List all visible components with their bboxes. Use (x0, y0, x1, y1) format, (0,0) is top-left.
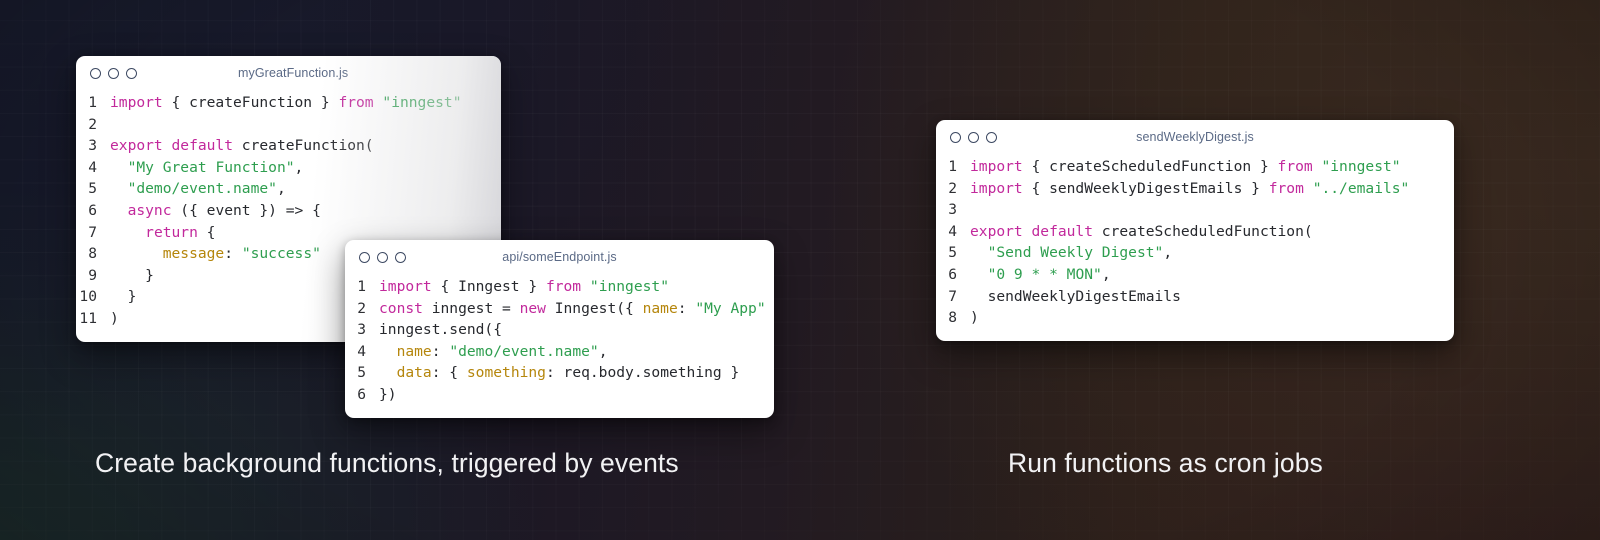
token-kw: from (338, 94, 373, 111)
token-prop: name (397, 343, 432, 360)
line-source: import { Inngest } from "inngest" (379, 276, 669, 298)
line-number: 7 (76, 222, 110, 244)
token-pln: } (110, 267, 154, 284)
token-pln (379, 343, 397, 360)
token-kw: const (379, 300, 423, 317)
token-pln: : (678, 300, 696, 317)
token-pln: ) (110, 310, 119, 327)
line-source: }) (379, 384, 397, 406)
line-source: export default createScheduledFunction( (970, 221, 1313, 243)
code-window-api-some-endpoint[interactable]: api/someEndpoint.js 1import { Inngest } … (345, 240, 774, 418)
window-controls[interactable] (345, 252, 406, 263)
token-kw: import (970, 158, 1023, 175)
window-controls[interactable] (76, 68, 137, 79)
code-line: 2import { sendWeeklyDigestEmails } from … (936, 178, 1454, 200)
token-str: "inngest" (382, 94, 461, 111)
token-pln: : (432, 343, 450, 360)
token-str: "Send Weekly Digest" (988, 244, 1164, 261)
token-pln (110, 159, 128, 176)
minimize-dot[interactable] (968, 132, 979, 143)
token-pln: : req.body.something } (546, 364, 739, 381)
token-pln (970, 266, 988, 283)
close-dot[interactable] (90, 68, 101, 79)
token-pln: inngest.send({ (379, 321, 502, 338)
line-number: 10 (76, 286, 110, 308)
token-str: "My Great Function" (128, 159, 295, 176)
code-line: 3 (936, 199, 1454, 221)
line-source: } (110, 265, 154, 287)
token-pln (110, 224, 145, 241)
code-line: 5 "Send Weekly Digest", (936, 242, 1454, 264)
window-title: api/someEndpoint.js (345, 250, 774, 264)
line-number: 5 (936, 242, 970, 264)
line-source: async ({ event }) => { (110, 200, 321, 222)
token-prop: something (467, 364, 546, 381)
line-source: import { createFunction } from "inngest" (110, 92, 461, 114)
line-source: data: { something: req.body.something } (379, 362, 739, 384)
line-number: 3 (76, 135, 110, 157)
line-source: message: "success" (110, 243, 321, 265)
token-pln (970, 244, 988, 261)
code-line: 1import { Inngest } from "inngest" (345, 276, 774, 298)
line-source: name: "demo/event.name", (379, 341, 607, 363)
maximize-dot[interactable] (395, 252, 406, 263)
token-kw: async (128, 202, 172, 219)
token-pln: { sendWeeklyDigestEmails } (1023, 180, 1269, 197)
line-number: 2 (936, 178, 970, 200)
window-title: sendWeeklyDigest.js (936, 130, 1454, 144)
token-kw: return (145, 224, 198, 241)
line-source: ) (970, 307, 979, 329)
token-pln (1304, 180, 1313, 197)
token-kw: from (546, 278, 581, 295)
minimize-dot[interactable] (377, 252, 388, 263)
line-source: } (110, 286, 136, 308)
code-editor-2[interactable]: 1import { createScheduledFunction } from… (936, 154, 1454, 341)
code-line: 5 data: { something: req.body.something … (345, 362, 774, 384)
token-prop: message (163, 245, 225, 262)
line-number: 1 (345, 276, 379, 298)
token-pln: inngest = (423, 300, 520, 317)
token-pln: , (1163, 244, 1172, 261)
token-pln: createScheduledFunction( (1093, 223, 1313, 240)
line-source: export default createFunction( (110, 135, 374, 157)
line-source: "My Great Function", (110, 157, 303, 179)
maximize-dot[interactable] (986, 132, 997, 143)
caption-left: Create background functions, triggered b… (95, 448, 679, 479)
token-pln: ) (970, 309, 979, 326)
token-kw: export default (110, 137, 233, 154)
code-line: 5 "demo/event.name", (76, 178, 501, 200)
token-str: "0 9 * * MON" (988, 266, 1102, 283)
line-number: 2 (76, 114, 110, 136)
line-number: 4 (936, 221, 970, 243)
code-line: 6 "0 9 * * MON", (936, 264, 1454, 286)
code-line: 4export default createScheduledFunction( (936, 221, 1454, 243)
token-str: "demo/event.name" (449, 343, 598, 360)
window-controls[interactable] (936, 132, 997, 143)
line-number: 1 (936, 156, 970, 178)
token-prop: name (643, 300, 678, 317)
code-editor-1[interactable]: 1import { Inngest } from "inngest"2const… (345, 274, 774, 418)
line-number: 6 (76, 200, 110, 222)
code-line: 8) (936, 307, 1454, 329)
line-number: 3 (345, 319, 379, 341)
line-number: 11 (76, 308, 110, 330)
window-titlebar: myGreatFunction.js (76, 56, 501, 90)
line-number: 9 (76, 265, 110, 287)
close-dot[interactable] (950, 132, 961, 143)
code-window-send-weekly-digest[interactable]: sendWeeklyDigest.js 1import { createSche… (936, 120, 1454, 341)
token-kw: from (1269, 180, 1304, 197)
line-source: sendWeeklyDigestEmails (970, 286, 1181, 308)
token-pln (581, 278, 590, 295)
token-kw: import (970, 180, 1023, 197)
token-pln (110, 202, 128, 219)
code-line: 4 name: "demo/event.name", (345, 341, 774, 363)
caption-right: Run functions as cron jobs (1008, 448, 1323, 479)
token-kw: new (520, 300, 546, 317)
token-pln: }) (379, 386, 397, 403)
token-pln: , (295, 159, 304, 176)
code-line: 7 sendWeeklyDigestEmails (936, 286, 1454, 308)
line-source: inngest.send({ (379, 319, 502, 341)
token-pln: , (277, 180, 286, 197)
token-str: "My App" (695, 300, 765, 317)
minimize-dot[interactable] (108, 68, 119, 79)
line-number: 4 (345, 341, 379, 363)
line-source: import { createScheduledFunction } from … (970, 156, 1401, 178)
line-number: 3 (936, 199, 970, 221)
token-pln (110, 245, 163, 262)
token-pln: { (198, 224, 216, 241)
token-pln: : (224, 245, 242, 262)
token-pln (379, 364, 397, 381)
line-source: "Send Weekly Digest", (970, 242, 1172, 264)
line-number: 8 (936, 307, 970, 329)
token-pln: , (599, 343, 608, 360)
code-line: 3export default createFunction( (76, 135, 501, 157)
code-line: 6}) (345, 384, 774, 406)
token-kw: from (1278, 158, 1313, 175)
line-source: import { sendWeeklyDigestEmails } from "… (970, 178, 1409, 200)
token-pln: } (110, 288, 136, 305)
token-pln: { createScheduledFunction } (1023, 158, 1278, 175)
line-source: "demo/event.name", (110, 178, 286, 200)
token-kw: import (110, 94, 163, 111)
token-pln: { createFunction } (163, 94, 339, 111)
code-line: 4 "My Great Function", (76, 157, 501, 179)
maximize-dot[interactable] (126, 68, 137, 79)
line-source: const inngest = new Inngest({ name: "My … (379, 298, 774, 320)
token-pln: Inngest({ (546, 300, 643, 317)
line-number: 6 (345, 384, 379, 406)
token-prop: data (397, 364, 432, 381)
line-number: 4 (76, 157, 110, 179)
token-pln: , (1102, 266, 1111, 283)
line-number: 2 (345, 298, 379, 320)
code-line: 2const inngest = new Inngest({ name: "My… (345, 298, 774, 320)
code-line: 1import { createScheduledFunction } from… (936, 156, 1454, 178)
line-number: 8 (76, 243, 110, 265)
token-pln: ({ event }) => { (172, 202, 321, 219)
line-number: 5 (76, 178, 110, 200)
token-pln: : { (432, 364, 467, 381)
code-line: 3inngest.send({ (345, 319, 774, 341)
promo-graphic: myGreatFunction.js 1import { createFunct… (0, 0, 1600, 540)
code-line: 6 async ({ event }) => { (76, 200, 501, 222)
token-pln: sendWeeklyDigestEmails (970, 288, 1181, 305)
token-pln: createFunction( (233, 137, 374, 154)
token-str: "inngest" (1321, 158, 1400, 175)
token-pln: { Inngest } (432, 278, 546, 295)
code-line: 1import { createFunction } from "inngest… (76, 92, 501, 114)
line-number: 7 (936, 286, 970, 308)
token-str: "demo/event.name" (128, 180, 277, 197)
line-source: "0 9 * * MON", (970, 264, 1111, 286)
close-dot[interactable] (359, 252, 370, 263)
token-kw: export default (970, 223, 1093, 240)
window-titlebar: sendWeeklyDigest.js (936, 120, 1454, 154)
line-number: 6 (936, 264, 970, 286)
token-str: "../emails" (1313, 180, 1410, 197)
code-line: 2 (76, 114, 501, 136)
token-str: "inngest" (590, 278, 669, 295)
window-titlebar: api/someEndpoint.js (345, 240, 774, 274)
token-kw: import (379, 278, 432, 295)
token-pln (110, 180, 128, 197)
window-title: myGreatFunction.js (76, 66, 501, 80)
line-number: 5 (345, 362, 379, 384)
line-source: return { (110, 222, 215, 244)
token-pln: }) (766, 300, 774, 317)
line-number: 1 (76, 92, 110, 114)
line-source: ) (110, 308, 119, 330)
token-str: "success" (242, 245, 321, 262)
